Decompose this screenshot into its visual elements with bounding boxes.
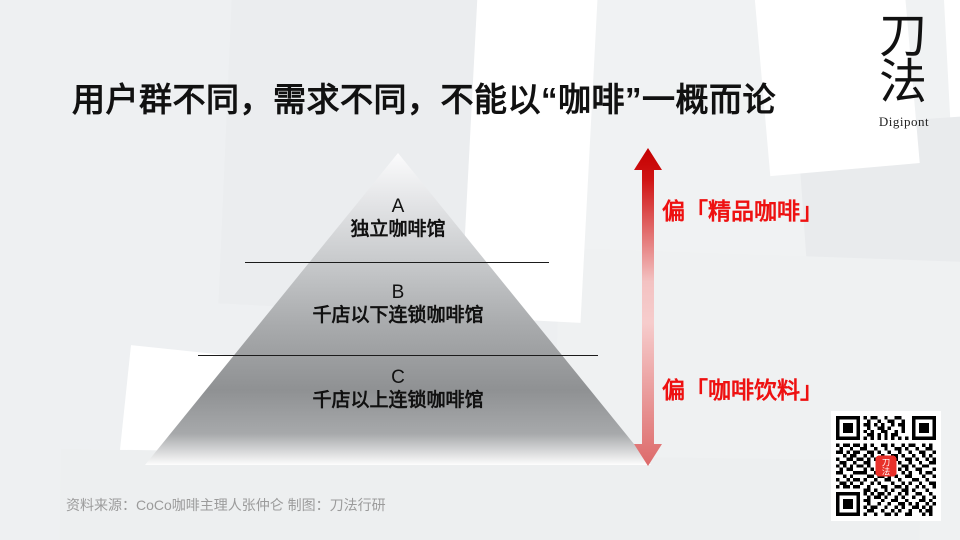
pyramid-tier-a-letter: A: [145, 195, 651, 218]
qr-center-logo-label: 刀: [882, 459, 890, 468]
brand-logo-cn: 刀 法: [858, 14, 950, 105]
page-title: 用户群不同，需求不同，不能以“咖啡”一概而论: [72, 73, 776, 121]
pyramid-tier-b-name: 千店以下连锁咖啡馆: [145, 304, 651, 327]
source-footnote: 资料来源：CoCo咖啡主理人张仲仑 制图：刀法行研: [66, 495, 386, 515]
svg-text:法: 法: [882, 467, 890, 477]
annotation-coffee-beverage: 偏「咖啡饮料」: [662, 371, 823, 405]
pyramid-tier-c: C 千店以上连锁咖啡馆: [145, 366, 651, 412]
pyramid-divider-a-b: [245, 262, 549, 263]
pyramid-tier-c-name: 千店以上连锁咖啡馆: [145, 389, 651, 412]
pyramid-tier-b: B 千店以下连锁咖啡馆: [145, 281, 651, 327]
slide-canvas: 用户群不同，需求不同，不能以“咖啡”一概而论 A 独立咖啡馆: [0, 0, 960, 540]
qr-code-icon: 刀 法: [836, 416, 936, 516]
pyramid-divider-b-c: [198, 355, 598, 356]
pyramid-tier-c-letter: C: [145, 366, 651, 389]
double-headed-vertical-arrow-icon: [630, 148, 666, 466]
brand-logo-cn-line2: 法: [858, 60, 950, 106]
annotation-premium-coffee: 偏「精品咖啡」: [662, 192, 823, 226]
qr-code[interactable]: 刀 法: [831, 411, 941, 521]
brand-logo-en: Digipont: [858, 114, 950, 130]
pyramid-tier-a: A 独立咖啡馆: [145, 195, 651, 241]
brand-logo-cn-line1: 刀: [858, 14, 950, 60]
pyramid-diagram: A 独立咖啡馆 B 千店以下连锁咖啡馆 C 千店以上连锁咖啡馆: [145, 153, 651, 465]
brand-logo: 刀 法 Digipont: [858, 14, 950, 130]
pyramid-tier-a-name: 独立咖啡馆: [145, 218, 651, 241]
pyramid-tier-b-letter: B: [145, 281, 651, 304]
